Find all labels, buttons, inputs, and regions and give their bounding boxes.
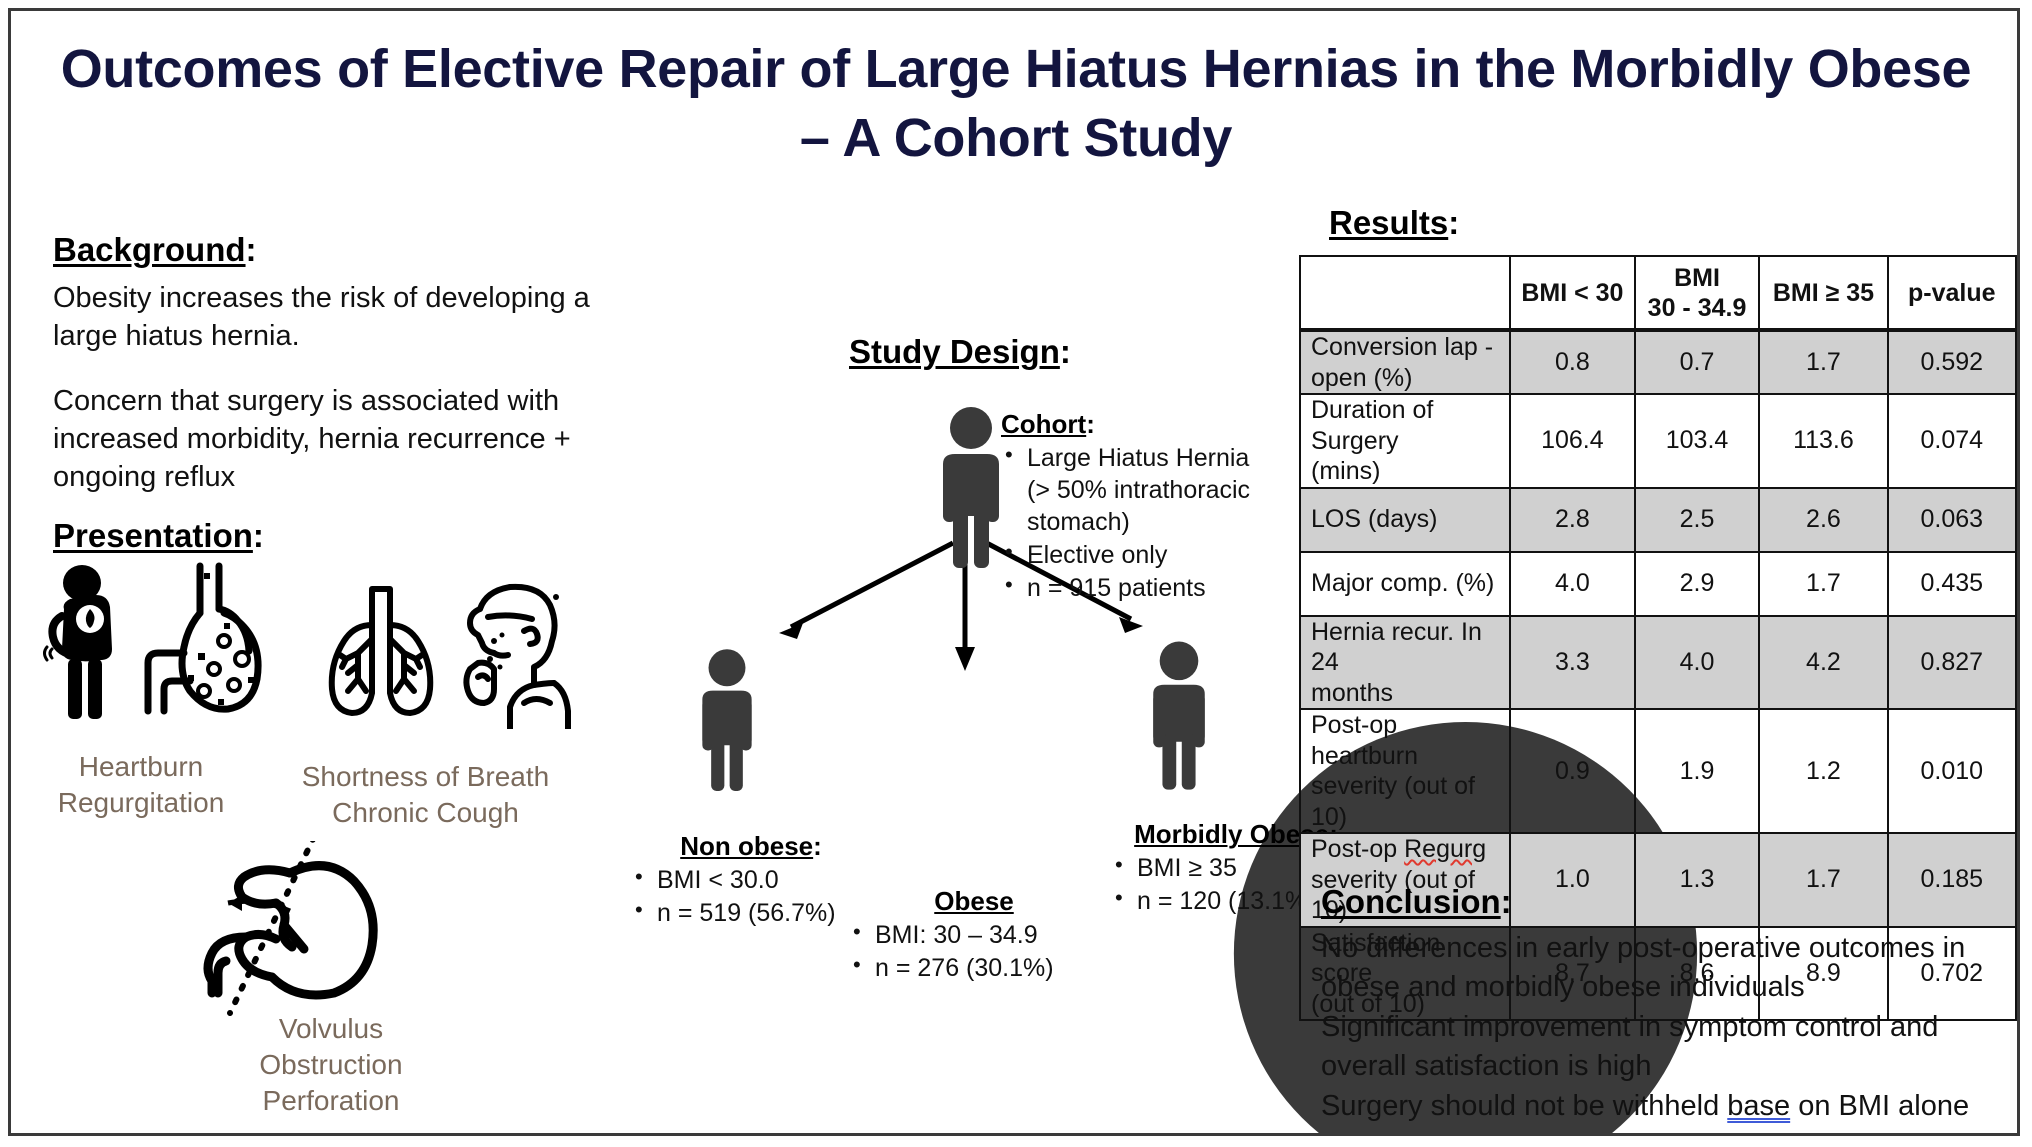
grammar-flagged-word: base (1727, 1090, 1790, 1122)
row-label: Conversion lap -open (%) (1300, 330, 1510, 394)
cell-value: 1.2 (1759, 709, 1887, 833)
list-item: n = 915 patients (1027, 572, 1251, 604)
cell-value: 0.592 (1888, 330, 2016, 394)
lungs-icon (318, 579, 578, 729)
group-bullet-list: BMI < 30.0 n = 519 (56.7%) (631, 864, 871, 929)
table-row: Post-op heartburnseverity (out of 10) 0.… (1300, 709, 2016, 833)
table-row: Major comp. (%) 4.0 2.9 1.7 0.435 (1300, 552, 2016, 616)
study-design-heading: Study Design: (849, 333, 1071, 371)
cell-value: 2.9 (1635, 552, 1760, 616)
cohort-title: Cohort: (1001, 409, 1251, 440)
column-header-bmi-30-349: BMI 30 - 34.9 (1635, 256, 1760, 330)
background-paragraph: Concern that surgery is associated with … (53, 382, 613, 497)
table-row: LOS (days) 2.8 2.5 2.6 0.063 (1300, 488, 2016, 552)
column-header-bmi-lt30: BMI < 30 (1510, 256, 1635, 330)
background-section: Background: Obesity increases the risk o… (53, 231, 613, 496)
cell-value: 106.4 (1510, 394, 1635, 488)
cell-value: 1.7 (1759, 833, 1887, 927)
cell-value: 0.074 (1888, 394, 2016, 488)
row-label: Hernia recur. In 24months (1300, 616, 1510, 710)
cell-value: 2.5 (1635, 488, 1760, 552)
symptom-label-breath: Shortness of Breath Chronic Cough (293, 759, 558, 831)
morbidly-obese-person-icon (1133, 639, 1225, 794)
conclusion-line: No differences in early post-operative o… (1321, 929, 2001, 1008)
cell-value: 2.8 (1510, 488, 1635, 552)
cell-value: 113.6 (1759, 394, 1887, 488)
conclusion-line: Significant improvement in symptom contr… (1321, 1008, 2001, 1087)
table-header-row: BMI < 30 BMI 30 - 34.9 BMI ≥ 35 p-value (1300, 256, 2016, 330)
misspelled-word: Regurg (1404, 835, 1486, 863)
symptom-label-volvulus: Volvulus Obstruction Perforation (211, 1011, 451, 1118)
cell-value: 0.435 (1888, 552, 2016, 616)
background-heading: Background: (53, 231, 613, 269)
cell-value: 4.2 (1759, 616, 1887, 710)
cell-value: 1.0 (1510, 833, 1635, 927)
presentation-heading: Presentation: (53, 517, 264, 555)
symptom-icon-row (33, 561, 603, 741)
cell-value: 1.9 (1635, 709, 1760, 833)
results-heading: Results: (1329, 204, 1459, 242)
symptom-label-heartburn: Heartburn Regurgitation (21, 749, 261, 821)
list-item: Large Hiatus Hernia (> 50% intrathoracic… (1027, 442, 1251, 538)
cell-value: 1.7 (1759, 552, 1887, 616)
twisted-stomach-volvulus-icon (186, 841, 406, 1021)
row-label: Post-op heartburnseverity (out of 10) (1300, 709, 1510, 833)
cell-value: 0.9 (1510, 709, 1635, 833)
cell-value: 2.6 (1759, 488, 1887, 552)
non-obese-person-icon (683, 646, 771, 796)
cell-value: 0.185 (1888, 833, 2016, 927)
list-item: BMI: 30 – 34.9 (875, 919, 1099, 951)
row-label: LOS (days) (1300, 488, 1510, 552)
cell-value: 0.7 (1635, 330, 1760, 394)
table-row: Conversion lap -open (%) 0.8 0.7 1.7 0.5… (1300, 330, 2016, 394)
conclusion-body: No differences in early post-operative o… (1321, 929, 2001, 1126)
table-row: Hernia recur. In 24months 3.3 4.0 4.2 0.… (1300, 616, 2016, 710)
list-item: n = 519 (56.7%) (657, 897, 871, 929)
cell-value: 3.3 (1510, 616, 1635, 710)
column-header-pvalue: p-value (1888, 256, 2016, 330)
page-title: Outcomes of Elective Repair of Large Hia… (41, 35, 1991, 173)
background-body: Obesity increases the risk of developing… (53, 279, 613, 496)
column-header-blank (1300, 256, 1510, 330)
poster-slide: Outcomes of Elective Repair of Large Hia… (8, 8, 2020, 1136)
list-item: Elective only (1027, 539, 1251, 571)
cell-value: 4.0 (1635, 616, 1760, 710)
cell-value: 0.063 (1888, 488, 2016, 552)
background-paragraph: Obesity increases the risk of developing… (53, 279, 613, 356)
row-label: Duration of Surgery(mins) (1300, 394, 1510, 488)
cell-value: 0.8 (1510, 330, 1635, 394)
cohort-bullet-list: Large Hiatus Hernia (> 50% intrathoracic… (1001, 442, 1251, 604)
cohort-description: Cohort: Large Hiatus Hernia (> 50% intra… (1001, 409, 1251, 605)
row-label-line-misspelled: Post-op Regurg (1311, 834, 1499, 865)
cell-value: 103.4 (1635, 394, 1760, 488)
person-clutching-stomach-icon (38, 561, 288, 736)
list-item: n = 276 (30.1%) (875, 952, 1099, 984)
group-title: Non obese: (631, 831, 871, 862)
group-title: Obese (849, 886, 1099, 917)
cell-value: 0.010 (1888, 709, 2016, 833)
group-obese: Obese BMI: 30 – 34.9 n = 276 (30.1%) (849, 886, 1099, 985)
list-item: BMI < 30.0 (657, 864, 871, 896)
group-non-obese: Non obese: BMI < 30.0 n = 519 (56.7%) (631, 831, 871, 930)
row-label: Major comp. (%) (1300, 552, 1510, 616)
cell-value: 1.3 (1635, 833, 1760, 927)
conclusion-line-flagged: Surgery should not be withheld base on B… (1321, 1087, 2001, 1126)
group-bullet-list: BMI: 30 – 34.9 n = 276 (30.1%) (849, 919, 1099, 984)
table-row: Duration of Surgery(mins) 106.4 103.4 11… (1300, 394, 2016, 488)
column-header-bmi-ge35: BMI ≥ 35 (1759, 256, 1887, 330)
cell-value: 0.827 (1888, 616, 2016, 710)
cell-value: 1.7 (1759, 330, 1887, 394)
cell-value: 4.0 (1510, 552, 1635, 616)
conclusion-heading: Conclusion: (1321, 883, 1512, 921)
